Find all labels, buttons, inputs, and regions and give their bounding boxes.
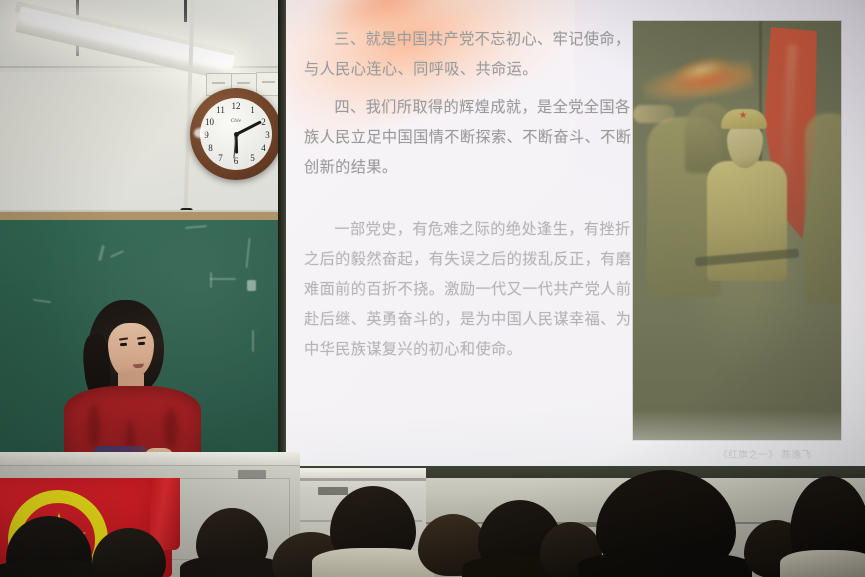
clock-numeral-4: 4	[257, 144, 270, 153]
presenter-eye	[138, 342, 145, 345]
presenter-eye	[120, 343, 127, 346]
slide-text-block: 三、就是中国共产党不忘初心、牢记使命，与人民心连心、同呼吸、共命运。 四、我们所…	[304, 24, 634, 364]
classroom-scene: Chle 12 1 2 3 4 5 6 7 8 9 10 11	[0, 0, 865, 577]
chalk-mark	[252, 330, 254, 352]
lectern-latch	[318, 487, 348, 495]
clock-face: Chle 12 1 2 3 4 5 6 7 8 9 10 11	[200, 98, 272, 170]
shawl-fold	[88, 404, 100, 448]
lectern-top	[0, 452, 300, 466]
clock-numeral-3: 3	[261, 131, 274, 140]
clock-numeral-10: 10	[203, 118, 216, 127]
audience-shoulders	[312, 548, 434, 577]
slide-body-paragraph: 一部党史，有危难之际的绝处逢生，有挫折之后的毅然奋起，有失误之后的拨乱反正，有磨…	[304, 214, 634, 364]
slide-paragraph-4: 四、我们所取得的辉煌成就，是全党全国各族人民立足中国国情不断探索、不断奋斗、不断…	[304, 92, 634, 182]
shawl-fold	[164, 408, 178, 448]
audience-shoulders	[578, 552, 752, 577]
clock-numeral-1: 1	[246, 106, 259, 115]
slide-paragraph-3: 三、就是中国共产党不忘初心、牢记使命，与人民心连心、同呼吸、共命运。	[304, 24, 634, 84]
clock-center-pin	[234, 132, 239, 137]
ceiling-seam	[0, 66, 290, 68]
chalk-mark	[210, 272, 212, 288]
audience-shoulders	[780, 550, 865, 577]
presenter	[60, 300, 205, 472]
clock-numeral-6: 6	[230, 157, 243, 166]
projection-screen: 三、就是中国共产党不忘初心、牢记使命，与人民心连心、同呼吸、共命运。 四、我们所…	[286, 0, 865, 470]
clock-numeral-12: 12	[230, 102, 243, 111]
lectern-label	[238, 470, 266, 479]
light-hanger-rod-right	[184, 0, 187, 22]
slide-spacer	[304, 190, 634, 214]
clock-numeral-11: 11	[214, 106, 227, 115]
chalk-mark	[210, 278, 236, 280]
clock-numeral-5: 5	[246, 154, 259, 163]
wall-clock: Chle 12 1 2 3 4 5 6 7 8 9 10 11	[190, 88, 282, 180]
clock-numeral-8: 8	[204, 144, 217, 153]
red-flag-painting	[633, 21, 841, 440]
chalk-mark	[247, 280, 256, 291]
clock-numeral-7: 7	[214, 154, 227, 163]
clock-brand: Chle	[231, 119, 242, 124]
clock-glare	[194, 128, 206, 138]
screen-bottom-fade	[286, 410, 865, 470]
painting-projector-wash	[633, 21, 841, 440]
audience-shoulders	[180, 556, 284, 577]
